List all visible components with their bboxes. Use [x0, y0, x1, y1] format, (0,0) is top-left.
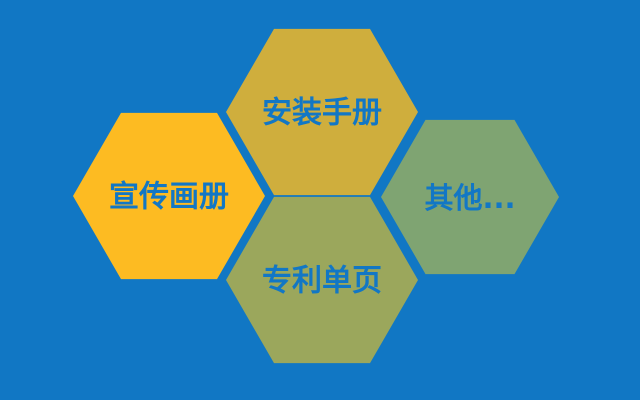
- hexagon-diagram-canvas: 宣传画册安装手册专利单页其他...: [0, 0, 640, 400]
- hexagon-label-installation-manual: 安装手册: [262, 96, 382, 131]
- hexagon-label-brochure: 宣传画册: [109, 180, 229, 215]
- hexagon-label-patent-flyer: 专利单页: [262, 264, 382, 299]
- hexagon-label-others: 其他...: [424, 181, 515, 215]
- hexagon-diagram-svg: 宣传画册安装手册专利单页其他...: [0, 0, 640, 400]
